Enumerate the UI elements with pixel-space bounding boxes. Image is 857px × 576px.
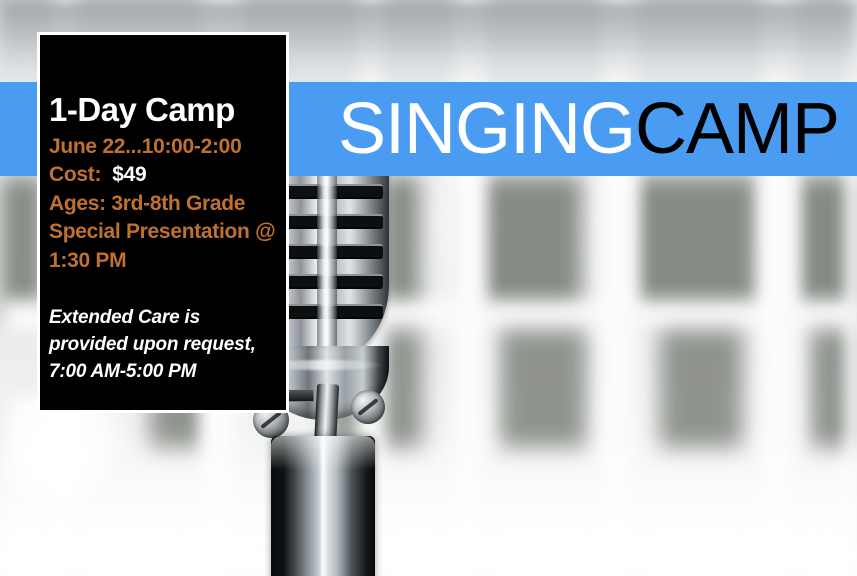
photo-highlight-glow bbox=[8, 395, 128, 515]
note-line: 7:00 AM-5:00 PM bbox=[49, 359, 281, 386]
detail-label: Special Presentation @ bbox=[49, 220, 275, 243]
detail-label: Cost: bbox=[49, 163, 101, 186]
microphone-stand-shoulder bbox=[271, 436, 375, 470]
note-line: provided upon request, bbox=[49, 332, 281, 359]
camp-info-card: 1-Day Camp June 22...10:00-2:00 Cost: $4… bbox=[37, 32, 289, 413]
photo-bottom-fade bbox=[0, 426, 857, 576]
detail-presentation-time: 1:30 PM bbox=[49, 247, 286, 276]
card-heading: 1-Day Camp bbox=[49, 93, 286, 128]
detail-label: June 22...10:00-2:00 bbox=[49, 135, 241, 158]
detail-label: Ages: 3rd-8th Grade bbox=[49, 192, 245, 215]
detail-ages: Ages: 3rd-8th Grade bbox=[49, 190, 286, 219]
detail-label: 1:30 PM bbox=[49, 249, 126, 272]
extended-care-note: Extended Care is provided upon request, … bbox=[49, 305, 281, 385]
microphone-switch bbox=[288, 390, 314, 402]
detail-cost: Cost: $49 bbox=[49, 161, 286, 190]
detail-value: $49 bbox=[101, 163, 146, 186]
detail-special-presentation: Special Presentation @ bbox=[49, 218, 286, 247]
note-line: Extended Care is bbox=[49, 305, 281, 332]
flyer-canvas: SINGINGCAMP 1-Day Camp June 22...10:00-2… bbox=[0, 0, 857, 576]
banner-title-camp: CAMP bbox=[635, 89, 839, 169]
microphone-mount-knob-right bbox=[351, 390, 385, 424]
detail-date-time: June 22...10:00-2:00 bbox=[49, 133, 286, 162]
banner-title-singing: SINGING bbox=[338, 89, 635, 169]
